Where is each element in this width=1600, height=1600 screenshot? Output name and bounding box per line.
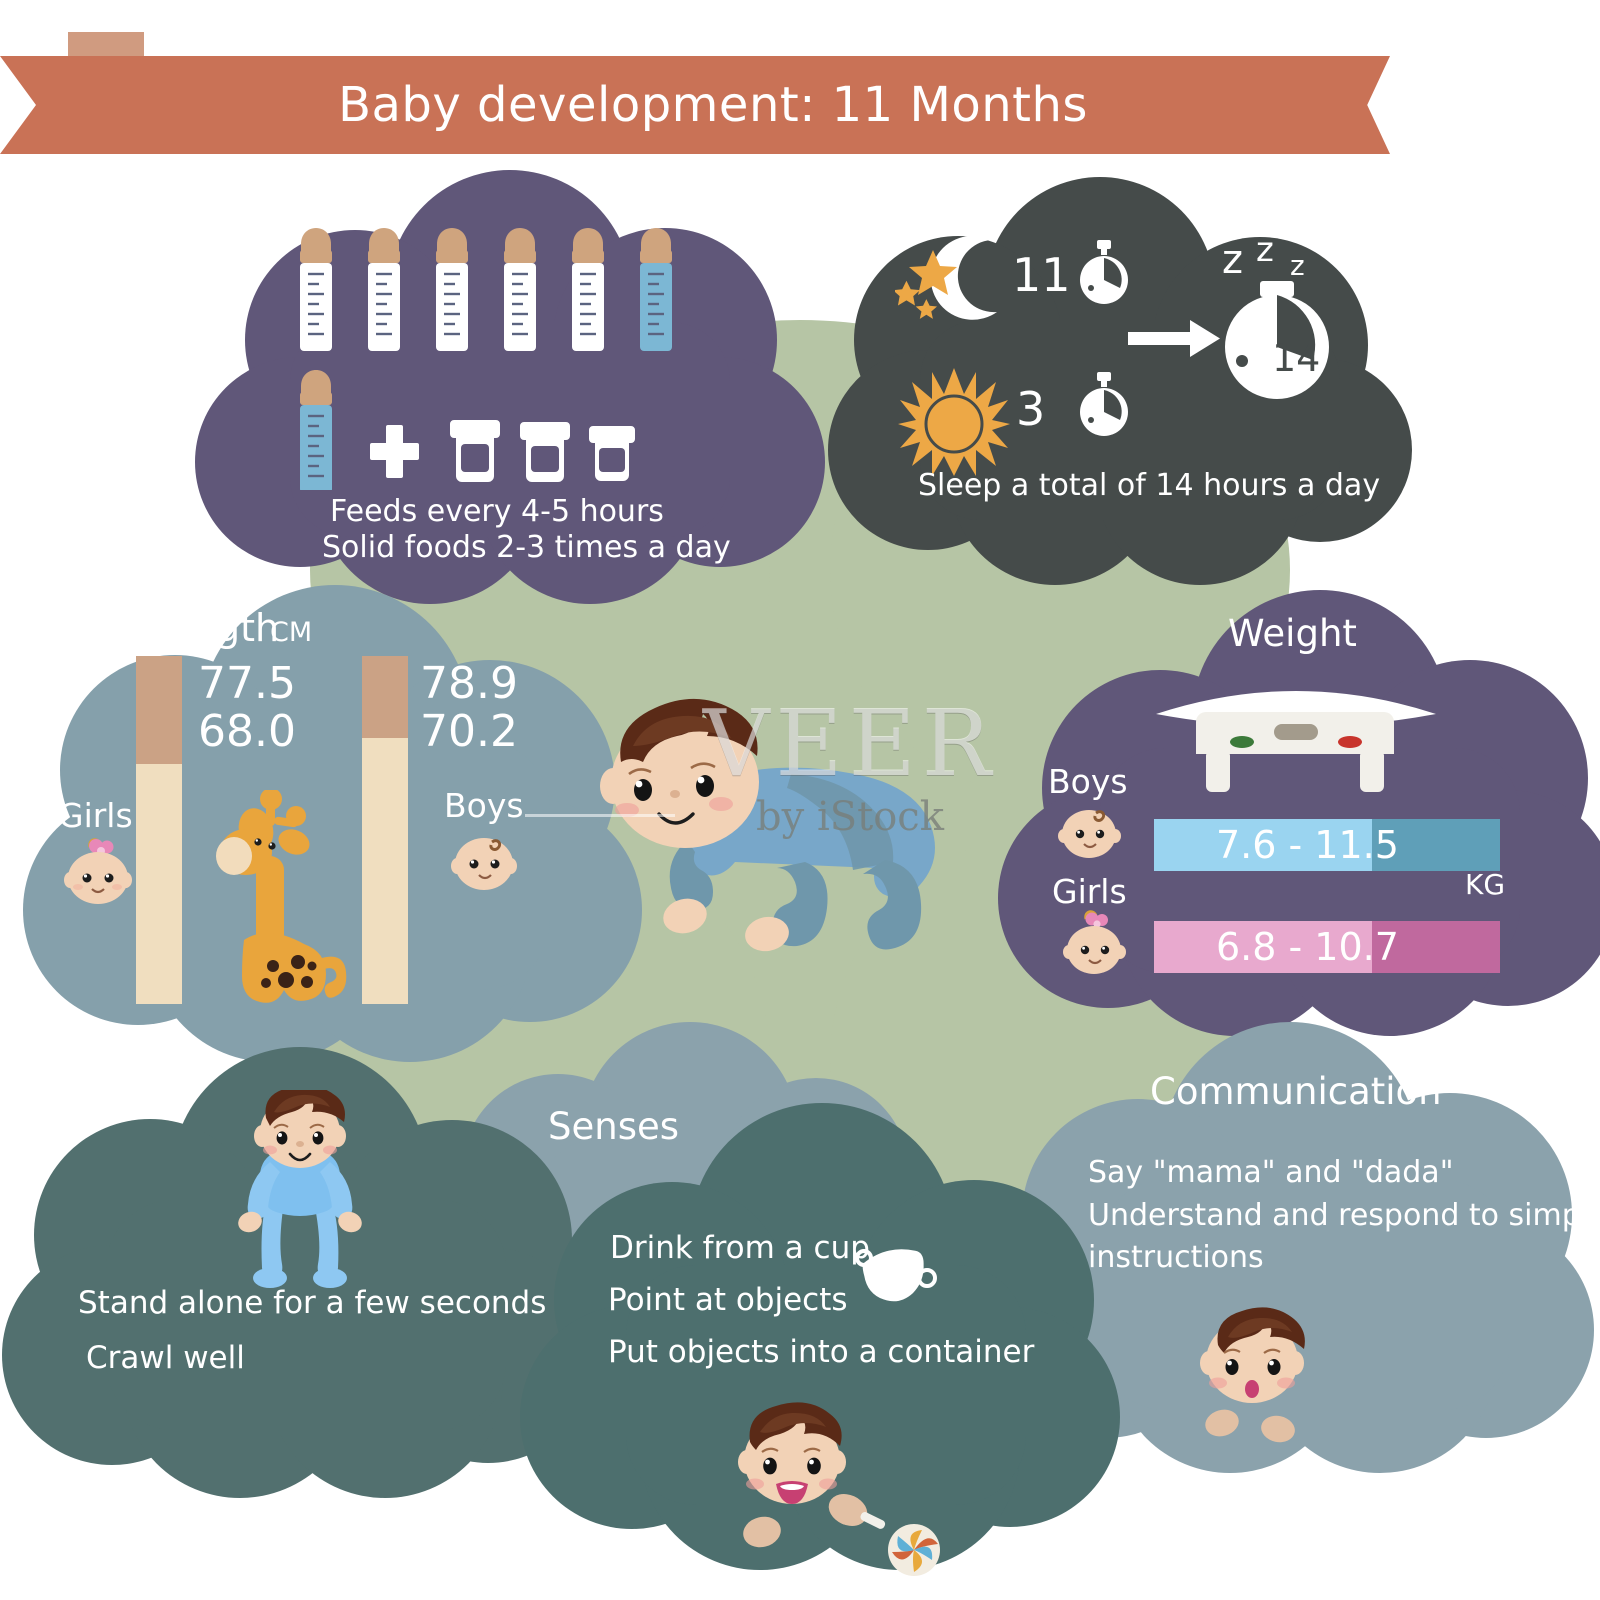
motor-line-2: Crawl well — [86, 1340, 245, 1376]
communication-line-1: Say "mama" and "dada" — [1088, 1155, 1454, 1190]
weight-bar-girls: 6.8 - 10.7 — [1154, 921, 1500, 973]
weight-boys-label: Boys — [1048, 762, 1128, 801]
length-bar-boys-cap — [362, 656, 408, 738]
svg-text:z: z — [1290, 249, 1305, 282]
stopwatch-day-icon — [1075, 372, 1133, 442]
cup-icon — [855, 1245, 937, 1307]
feeding-line-1: Feeds every 4-5 hours — [330, 492, 664, 532]
senses-line-1: Drink from a cup — [610, 1230, 870, 1266]
page-title: Baby development: 11 Months — [68, 56, 1358, 154]
girl-baby-head-icon — [62, 838, 136, 912]
crawling-baby-illustration — [555, 690, 995, 994]
weight-bar-boys: 7.6 - 11.5 — [1154, 819, 1500, 871]
boy-baby-head-icon — [450, 828, 520, 898]
length-girls-min: 68.0 — [198, 706, 296, 757]
communication-title: Communication — [1150, 1070, 1442, 1113]
sleep-total-stopwatch: z z z 14 — [1208, 225, 1368, 409]
length-title: Length — [148, 606, 279, 650]
length-boys-min: 70.2 — [420, 706, 518, 757]
length-bar-boys — [362, 656, 408, 1004]
banner-left-fold — [0, 56, 74, 154]
length-girls-label: Girls — [58, 796, 133, 835]
sleep-total-value: 14 — [1272, 336, 1320, 380]
senses-line-2: Point at objects — [608, 1282, 848, 1318]
stopwatch-night-icon — [1075, 240, 1133, 310]
length-girls-max: 77.5 — [198, 658, 296, 709]
length-boys-max: 78.9 — [420, 658, 518, 709]
weight-title: Weight — [1228, 612, 1357, 655]
motor-line-1: Stand alone for a few seconds — [78, 1285, 546, 1321]
communication-line-3: instructions — [1088, 1240, 1264, 1275]
giraffe-toy-icon — [208, 790, 368, 1024]
standing-baby-icon — [230, 1090, 370, 1294]
sleep-caption: Sleep a total of 14 hours a day — [918, 468, 1380, 503]
weight-boy-head-icon — [1058, 800, 1122, 866]
communication-line-2: Understand and respond to simple — [1088, 1198, 1600, 1233]
bottle-row — [300, 228, 672, 362]
weight-boys-range: 7.6 - 11.5 — [1154, 819, 1500, 871]
weight-girls-range: 6.8 - 10.7 — [1154, 921, 1500, 973]
senses-baby-icon — [720, 1400, 940, 1600]
sleep-day-hours: 3 — [1016, 382, 1045, 436]
baby-scale-icon — [1150, 672, 1440, 802]
feeding-line-2: Solid foods 2-3 times a day — [322, 528, 731, 568]
infographic-canvas: Baby development: 11 Months — [0, 0, 1600, 1600]
solid-food-row — [300, 370, 672, 494]
weight-girl-head-icon — [1062, 910, 1128, 980]
svg-text:z: z — [1222, 237, 1243, 283]
sun-icon — [898, 368, 1010, 480]
svg-text:z: z — [1256, 230, 1274, 270]
length-bar-girls-cap — [136, 656, 182, 764]
arrow-right-icon — [1128, 318, 1220, 364]
moon-stars-icon — [895, 228, 1015, 342]
communication-baby-icon — [1190, 1305, 1320, 1449]
length-unit: CM — [270, 617, 312, 648]
length-bar-girls — [136, 656, 182, 1004]
length-boys-label: Boys — [444, 786, 524, 825]
weight-unit: KG — [1465, 868, 1505, 901]
sleep-night-hours: 11 — [1012, 248, 1071, 302]
weight-girls-label: Girls — [1052, 872, 1127, 911]
senses-line-3: Put objects into a container — [608, 1334, 1034, 1370]
